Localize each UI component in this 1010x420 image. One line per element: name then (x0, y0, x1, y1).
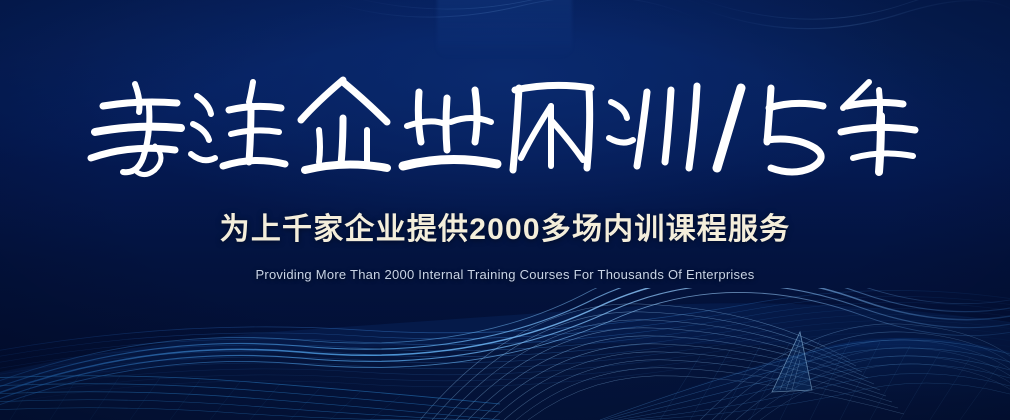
glyph-five (767, 88, 823, 172)
tagline-english: Providing More Than 2000 Internal Traini… (255, 267, 754, 282)
banner-content: 专注企业内训15年 (0, 0, 1010, 420)
glyph-xun (609, 86, 697, 168)
headline-strokes: 专注企业内训15年 (85, 72, 925, 190)
subtitle-chinese: 为上千家企业提供2000多场内训课程服务 (220, 204, 791, 248)
hero-banner: 专注企业内训15年 (0, 0, 1010, 420)
headline-calligraphy: 专注企业内训15年 (85, 72, 925, 190)
glyph-nian (841, 82, 915, 172)
glyph-ye (403, 90, 497, 166)
glyph-qi (301, 80, 387, 170)
glyph-zhuan (91, 84, 181, 175)
glyph-zhu (191, 82, 285, 166)
glyph-one (717, 88, 741, 168)
glyph-nei (513, 85, 591, 170)
